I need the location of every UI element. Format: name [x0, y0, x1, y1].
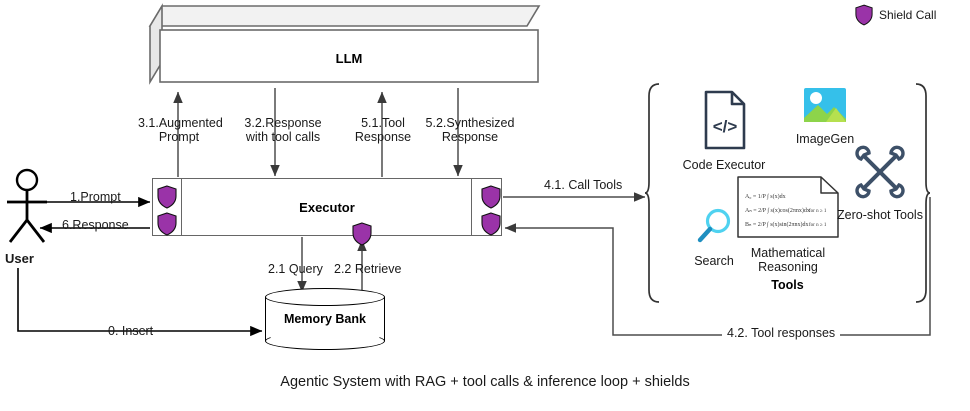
shield-icon[interactable]	[481, 212, 501, 241]
tools-group: </> Code Executor ImageGen Search A₀ = 1…	[645, 82, 930, 304]
memory-bank-node[interactable]: Memory Bank	[265, 288, 385, 350]
legend: Shield Call	[855, 4, 936, 26]
tool-zero-shot[interactable]: Zero-shot Tools	[837, 144, 923, 222]
edge-label-augmented-prompt: 3.1.Augmented Prompt	[138, 116, 220, 144]
image-icon	[802, 86, 848, 124]
svg-text:for n ≥ 1: for n ≥ 1	[809, 223, 827, 228]
shield-icon[interactable]	[157, 212, 177, 241]
executor-node[interactable]: Executor	[152, 178, 502, 236]
math-document-icon: A₀ = 1/P ∫ s(x)dx Aₙ = 2/P ∫ s(x)cos(2πn…	[737, 176, 839, 238]
llm-label: LLM	[160, 32, 538, 84]
tool-label: Zero-shot Tools	[837, 208, 923, 222]
cylinder-top	[265, 288, 385, 306]
cylinder-bottom	[265, 332, 385, 350]
legend-label: Shield Call	[879, 8, 936, 22]
edge-label-call-tools: 4.1. Call Tools	[540, 178, 626, 192]
svg-text:</>: </>	[713, 117, 738, 136]
shield-icon	[855, 4, 873, 26]
edge-label-response: 6.Response	[62, 218, 129, 232]
llm-node[interactable]: LLM	[150, 4, 540, 86]
svg-text:Bₙ = 2/P ∫ s(x)sin(2πnx)dx: Bₙ = 2/P ∫ s(x)sin(2πnx)dx	[745, 221, 809, 228]
edge-label-retrieve: 2.2 Retrieve	[334, 262, 401, 276]
edge-label-insert: 0. Insert	[108, 324, 153, 338]
user-label: User	[5, 252, 34, 266]
edge-label-query: 2.1 Query	[268, 262, 323, 276]
edge-label-tool-responses: 4.2. Tool responses	[722, 326, 840, 340]
figure-caption: Agentic System with RAG + tool calls & i…	[0, 374, 970, 390]
tools-group-label: Tools	[645, 278, 930, 292]
stick-figure-icon	[2, 168, 62, 248]
edge-label-response-tool-calls: 3.2.Response with tool calls	[236, 116, 330, 144]
user-node[interactable]	[2, 168, 62, 253]
crossed-wrenches-icon	[852, 144, 908, 200]
code-document-icon: </>	[700, 90, 748, 150]
shield-icon[interactable]	[352, 222, 372, 251]
shield-icon[interactable]	[481, 185, 501, 214]
memory-bank-label: Memory Bank	[265, 306, 385, 332]
executor-label: Executor	[153, 179, 501, 235]
edge-label-synthesized-response: 5.2.Synthesized Response	[420, 116, 520, 144]
edge-label-prompt: 1.Prompt	[70, 190, 121, 204]
shield-icon[interactable]	[157, 185, 177, 214]
svg-text:A₀ = 1/P ∫ s(x)dx: A₀ = 1/P ∫ s(x)dx	[745, 193, 786, 200]
tool-imagegen[interactable]: ImageGen	[770, 86, 880, 146]
tool-label: Code Executor	[659, 158, 789, 172]
tool-label: Mathematical Reasoning	[727, 246, 849, 274]
svg-text:Aₙ = 2/P ∫ s(x)cos(2πnx)dx: Aₙ = 2/P ∫ s(x)cos(2πnx)dx	[745, 207, 810, 214]
tool-math-reasoning[interactable]: A₀ = 1/P ∫ s(x)dx Aₙ = 2/P ∫ s(x)cos(2πn…	[727, 176, 849, 274]
svg-text:for n ≥ 1: for n ≥ 1	[809, 209, 827, 214]
edge-label-tool-response: 5.1.Tool Response	[348, 116, 418, 144]
